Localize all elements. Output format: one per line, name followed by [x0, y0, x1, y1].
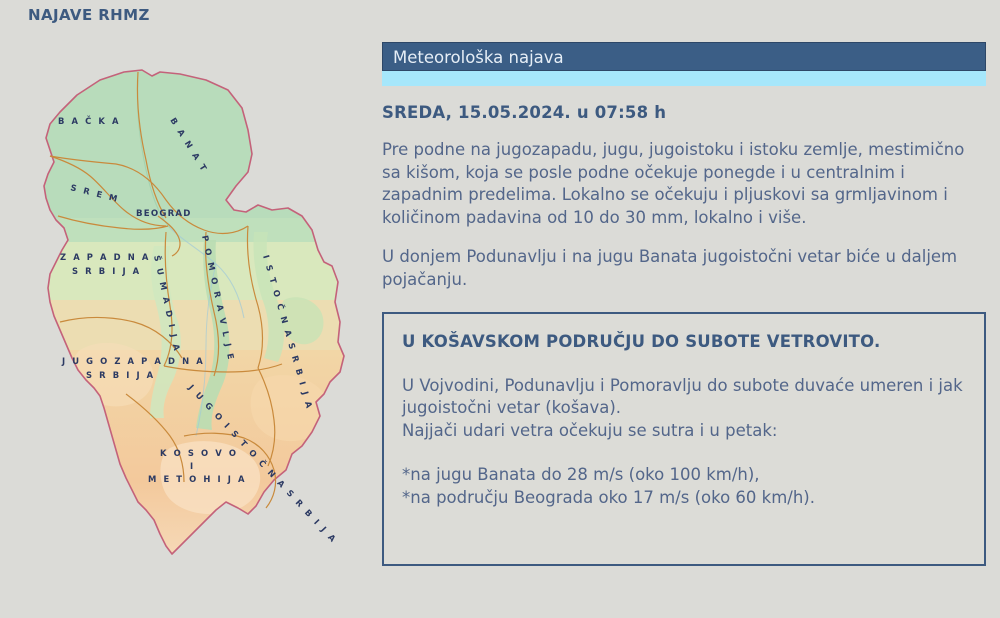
map-label-kosovo-line1: K O S O V O [160, 448, 238, 458]
map-label-jugozapadna-srbija-line1: J U G O Z A P A D N A [61, 356, 205, 366]
wind-warning-heading: U KOŠAVSKOM PODRUČJU DO SUBOTE VETROVITO… [402, 331, 968, 353]
meteorological-bulletin: Meteorološka najava SREDA, 15.05.2024. u… [382, 42, 986, 566]
wind-warning-body: U Vojvodini, Podunavlju i Pomoravlju do … [402, 375, 968, 443]
wind-warning-gusts: *na jugu Banata do 28 m/s (oko 100 km/h)… [402, 464, 968, 509]
bulletin-title-text: Meteorološka najava [393, 48, 564, 67]
map-svg: B A Č K A B A N A T S R E M BEOGRAD Z A … [20, 50, 365, 590]
serbia-region-map: B A Č K A B A N A T S R E M BEOGRAD Z A … [20, 50, 365, 590]
map-label-kosovo-line2: I [190, 461, 195, 471]
map-label-zapadna-srbija-line2: S R B I J A [72, 266, 141, 276]
page-title: NAJAVE RHMZ [28, 6, 150, 24]
map-label-kosovo-line3: M E T O H I J A [148, 474, 247, 484]
map-label-zapadna-srbija-line1: Z A P A D N A [60, 252, 150, 262]
bulletin-paragraph-2: U donjem Podunavlju i na jugu Banata jug… [382, 246, 986, 291]
bulletin-date: SREDA, 15.05.2024. u 07:58 h [382, 103, 986, 122]
bulletin-accent-bar [382, 71, 986, 86]
bulletin-paragraph-1: Pre podne na jugozapadu, jugu, jugoistok… [382, 139, 986, 229]
map-label-jugozapadna-srbija-line2: S R B I J A [86, 370, 155, 380]
bulletin-titlebar: Meteorološka najava [382, 42, 986, 71]
wind-warning-box: U KOŠAVSKOM PODRUČJU DO SUBOTE VETROVITO… [382, 312, 986, 566]
map-label-beograd: BEOGRAD [136, 209, 192, 219]
map-label-backa: B A Č K A [58, 115, 121, 126]
